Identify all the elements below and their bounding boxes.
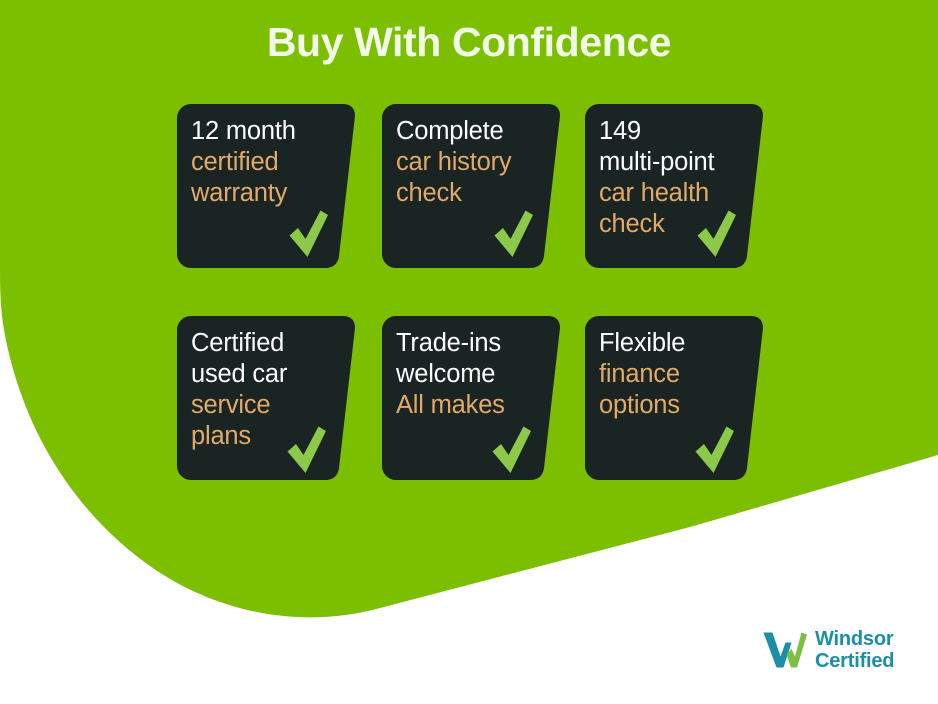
card-line: welcome (396, 359, 542, 390)
feature-card-trade-ins[interactable]: Trade-ins welcome All makes (382, 316, 560, 480)
windsor-w-icon (762, 629, 808, 671)
feature-card-certified-warranty[interactable]: 12 month certified warranty (177, 104, 355, 268)
check-tick-icon (285, 424, 327, 476)
logo-line-2: Certified (815, 650, 894, 672)
card-text-block: 12 month certified warranty (191, 116, 337, 209)
card-line: Flexible (599, 328, 745, 359)
card-line: check (396, 178, 542, 209)
card-line: used car (191, 359, 337, 390)
card-line: multi-point (599, 147, 745, 178)
card-line: options (599, 390, 745, 421)
check-tick-icon (287, 208, 329, 260)
card-line: 149 (599, 116, 745, 147)
card-line: Complete (396, 116, 542, 147)
card-line: All makes (396, 390, 542, 421)
card-line: car history (396, 147, 542, 178)
check-tick-icon (490, 424, 532, 476)
card-line: 12 month (191, 116, 337, 147)
feature-card-flexible-finance[interactable]: Flexible finance options (585, 316, 763, 480)
feature-card-grid: 12 month certified warranty Complete car… (177, 104, 777, 480)
logo-line-1: Windsor (815, 628, 894, 650)
check-tick-icon (492, 208, 534, 260)
card-text-block: Trade-ins welcome All makes (396, 328, 542, 421)
feature-card-multi-point-health-check[interactable]: 149 multi-point car health check (585, 104, 763, 268)
check-tick-icon (695, 208, 737, 260)
feature-card-service-plans[interactable]: Certified used car service plans (177, 316, 355, 480)
check-tick-icon (693, 424, 735, 476)
card-line: finance (599, 359, 745, 390)
poster-canvas: Buy With Confidence 12 month certified w… (0, 0, 938, 704)
logo-wordmark: Windsor Certified (815, 628, 894, 672)
brand-logo[interactable]: Windsor Certified (762, 628, 894, 672)
card-line: car health (599, 178, 745, 209)
card-text-block: Complete car history check (396, 116, 542, 209)
card-line: Trade-ins (396, 328, 542, 359)
card-line: certified (191, 147, 337, 178)
page-title: Buy With Confidence (0, 19, 938, 66)
card-line: Certified (191, 328, 337, 359)
card-line: warranty (191, 178, 337, 209)
card-line: service (191, 390, 337, 421)
card-text-block: Flexible finance options (599, 328, 745, 421)
feature-card-car-history-check[interactable]: Complete car history check (382, 104, 560, 268)
